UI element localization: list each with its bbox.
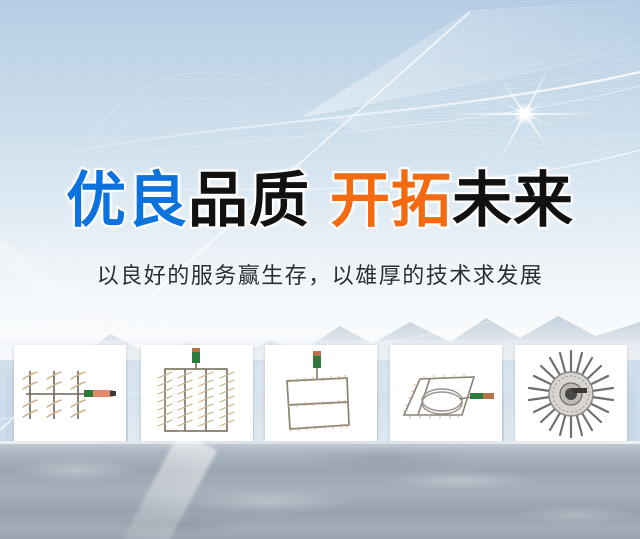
headline-segment-2: 品质 [188,166,310,236]
thumbnail-multi-branch-hook-rack[interactable] [14,345,126,443]
thumbnail-ring-and-panel-rack[interactable] [390,345,502,443]
headline: 优良品质开拓未来 [0,168,640,234]
promo-banner: 优良品质开拓未来 以良好的服务赢生存，以雄厚的技术求发展 [0,0,640,539]
headline-segment-3: 开拓 [330,166,452,236]
thumbnail-radial-starburst-rack[interactable] [515,345,627,443]
thumbnail-dense-pin-frame-rack[interactable] [141,345,253,443]
subtitle: 以良好的服务赢生存，以雄厚的技术求发展 [0,258,640,290]
headline-segment-4: 未来 [452,166,574,236]
headline-segment-1: 优良 [66,166,188,236]
ground-texture [0,441,640,539]
thumbnail-flat-panel-frame-rack[interactable] [265,345,377,443]
product-thumbnail-strip [0,345,640,445]
ground-surface [0,441,640,539]
